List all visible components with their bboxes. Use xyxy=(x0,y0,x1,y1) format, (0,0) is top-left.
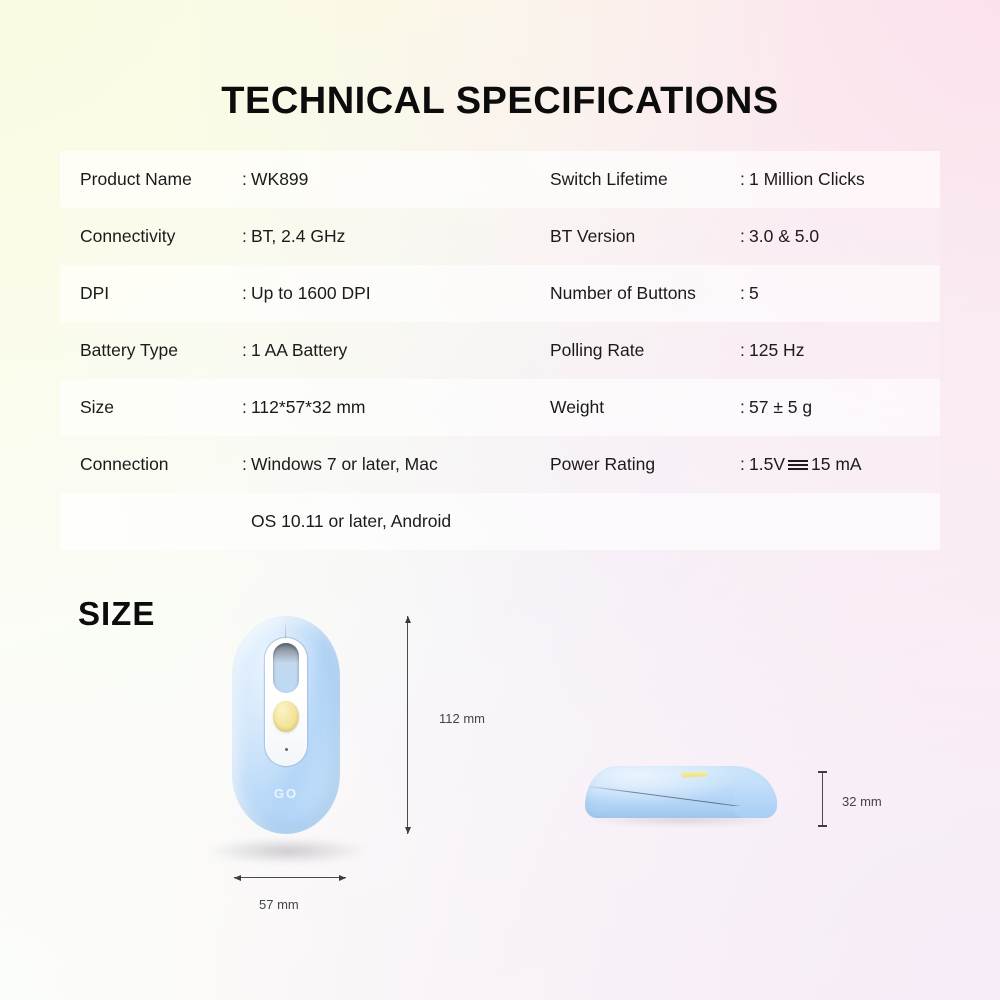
table-row: Battery Type :1 AA Battery Polling Rate … xyxy=(60,322,940,379)
spec-value-prefix: 1.5V xyxy=(749,454,785,475)
spec-label: Size xyxy=(60,379,242,436)
colon-separator: : xyxy=(740,169,749,190)
colon-separator: : xyxy=(740,397,749,418)
spec-value-text: 112*57*32 mm xyxy=(251,397,365,418)
spec-value-text: Up to 1600 DPI xyxy=(251,283,371,304)
colon-separator: : xyxy=(740,454,749,475)
dimension-line xyxy=(822,771,823,827)
spec-label: Polling Rate xyxy=(530,322,740,379)
dimension-line xyxy=(407,616,408,834)
spec-label: DPI xyxy=(60,265,242,322)
spec-value: :125 Hz xyxy=(740,322,940,379)
product-spec-page: TECHNICAL SPECIFICATIONS Product Name :W… xyxy=(0,0,1000,1000)
colon-separator: : xyxy=(740,283,749,304)
spec-value: :Windows 7 or later, Mac xyxy=(242,436,530,493)
dimension-arrow-bottom xyxy=(403,828,412,834)
spec-label: Battery Type xyxy=(60,322,242,379)
spec-value: :BT, 2.4 GHz xyxy=(242,208,530,265)
spec-label-empty xyxy=(60,493,242,550)
spec-value-text: 5 xyxy=(749,283,759,304)
dimension-line-height xyxy=(403,616,412,834)
spec-value-continuation: OS 10.11 or later, Android xyxy=(242,493,530,550)
spec-value: :112*57*32 mm xyxy=(242,379,530,436)
spec-value-text: Windows 7 or later, Mac xyxy=(251,454,438,475)
spec-value-text: 1 Million Clicks xyxy=(749,169,865,190)
spec-value: :1.5V15 mA xyxy=(740,436,940,493)
colon-separator: : xyxy=(242,226,251,247)
mouse-top-view-illustration: GO xyxy=(232,616,340,834)
spec-value-text: 3.0 & 5.0 xyxy=(749,226,819,247)
spec-value-text: 57 ± 5 g xyxy=(749,397,812,418)
dimension-line-width xyxy=(234,873,346,882)
table-row: Connectivity :BT, 2.4 GHz BT Version :3.… xyxy=(60,208,940,265)
size-section-heading: SIZE xyxy=(78,595,155,633)
spec-value: :1 Million Clicks xyxy=(740,151,940,208)
dimension-arrow-top xyxy=(403,616,412,622)
spec-value-text: WK899 xyxy=(251,169,308,190)
dc-power-symbol-icon xyxy=(788,459,808,470)
colon-separator: : xyxy=(242,340,251,361)
spec-label-empty xyxy=(530,493,740,550)
table-row: Connection :Windows 7 or later, Mac Powe… xyxy=(60,436,940,493)
colon-separator: : xyxy=(242,169,251,190)
page-title: TECHNICAL SPECIFICATIONS xyxy=(0,80,1000,123)
spec-value: :WK899 xyxy=(242,151,530,208)
mouse-top-view-shadow xyxy=(208,838,366,864)
table-row: OS 10.11 or later, Android xyxy=(60,493,940,550)
spec-value-text: BT, 2.4 GHz xyxy=(251,226,345,247)
spec-label: Switch Lifetime xyxy=(530,151,740,208)
spec-value: :1 AA Battery xyxy=(242,322,530,379)
spec-value-text: OS 10.11 or later, Android xyxy=(251,511,451,532)
colon-separator: : xyxy=(242,397,251,418)
colon-separator: : xyxy=(242,454,251,475)
spec-label: Connectivity xyxy=(60,208,242,265)
spec-value-text: 1 AA Battery xyxy=(251,340,347,361)
spec-label: Weight xyxy=(530,379,740,436)
scroll-wheel-icon xyxy=(273,643,299,693)
table-row: Product Name :WK899 Switch Lifetime :1 M… xyxy=(60,151,940,208)
led-indicator-icon xyxy=(285,748,288,751)
spec-value-empty xyxy=(740,493,940,550)
dpi-button-icon xyxy=(273,701,299,732)
dimension-label-depth: 32 mm xyxy=(842,794,882,809)
table-row: Size :112*57*32 mm Weight :57 ± 5 g xyxy=(60,379,940,436)
colon-separator: : xyxy=(242,283,251,304)
dimension-tick-bottom xyxy=(818,821,827,827)
dimension-line-depth xyxy=(818,771,827,827)
dimension-line xyxy=(234,877,346,878)
spec-label: BT Version xyxy=(530,208,740,265)
mouse-center-strip xyxy=(265,638,307,766)
colon-separator: : xyxy=(740,340,749,361)
colon-separator: : xyxy=(740,226,749,247)
spec-value: :Up to 1600 DPI xyxy=(242,265,530,322)
spec-label: Number of Buttons xyxy=(530,265,740,322)
spec-value-text: 125 Hz xyxy=(749,340,804,361)
technical-specifications-table: Product Name :WK899 Switch Lifetime :1 M… xyxy=(60,151,940,550)
table-row: DPI :Up to 1600 DPI Number of Buttons :5 xyxy=(60,265,940,322)
mouse-side-rear-hump xyxy=(733,780,777,818)
spec-label: Power Rating xyxy=(530,436,740,493)
spec-value: :3.0 & 5.0 xyxy=(740,208,940,265)
dimension-label-width: 57 mm xyxy=(259,897,299,912)
spec-value: :57 ± 5 g xyxy=(740,379,940,436)
dimension-label-height: 112 mm xyxy=(439,711,485,726)
spec-label: Connection xyxy=(60,436,242,493)
spec-value: :5 xyxy=(740,265,940,322)
dimension-tick-top xyxy=(818,771,827,777)
mouse-side-view-illustration xyxy=(585,766,777,820)
spec-label: Product Name xyxy=(60,151,242,208)
spec-value-suffix: 15 mA xyxy=(811,454,862,475)
brand-logo: GO xyxy=(232,786,340,801)
